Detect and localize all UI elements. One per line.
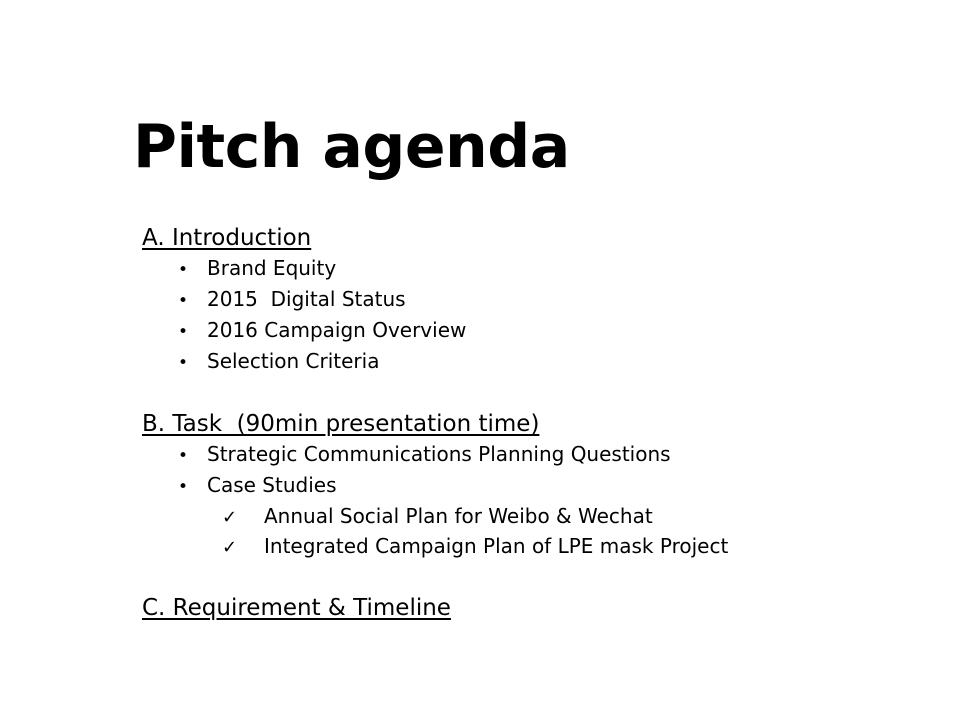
list-item-label: Brand Equity [207,254,336,283]
list-item-label: Integrated Campaign Plan of LPE mask Pro… [264,532,728,561]
bullet-dot-icon: • [178,318,207,347]
section-heading-text: C. Requirement & Timeline [142,595,451,621]
page-title: Pitch agenda [133,112,570,182]
checkmark-icon: ✓ [222,533,264,562]
bullet-list: •Strategic Communications Planning Quest… [0,440,960,562]
bullet-dot-icon: • [178,256,207,285]
list-item: •Selection Criteria [0,347,960,378]
list-item: •2016 Campaign Overview [0,316,960,347]
section-heading-text: B. Task (90min presentation time) [142,411,539,437]
section-heading: B. Task (90min presentation time) [0,408,960,440]
agenda-body: A. Introduction•Brand Equity•2015 Digita… [0,222,960,624]
section-spacer [0,562,960,592]
checkmark-icon: ✓ [222,503,264,532]
bullet-dot-icon: • [178,442,207,471]
agenda-section: A. Introduction•Brand Equity•2015 Digita… [0,222,960,378]
list-item-label: Selection Criteria [207,347,379,376]
section-heading-text: A. Introduction [142,225,311,251]
list-item-label: Annual Social Plan for Weibo & Wechat [264,502,653,531]
agenda-section: C. Requirement & Timeline [0,592,960,624]
list-item: •2015 Digital Status [0,285,960,316]
bullet-dot-icon: • [178,473,207,502]
bullet-dot-icon: • [178,349,207,378]
section-spacer [0,378,960,408]
bullet-dot-icon: • [178,287,207,316]
bullet-list: •Brand Equity•2015 Digital Status•2016 C… [0,254,960,378]
presentation-slide: Pitch agenda A. Introduction•Brand Equit… [0,0,960,720]
list-item-label: Case Studies [207,471,337,500]
list-item: •Brand Equity [0,254,960,285]
agenda-section: B. Task (90min presentation time)•Strate… [0,408,960,562]
list-item: ✓Annual Social Plan for Weibo & Wechat [0,502,960,532]
list-item: •Strategic Communications Planning Quest… [0,440,960,471]
list-item-label: 2016 Campaign Overview [207,316,466,345]
list-item-label: Strategic Communications Planning Questi… [207,440,671,469]
section-heading: A. Introduction [0,222,960,254]
list-item-label: 2015 Digital Status [207,285,406,314]
list-item: ✓Integrated Campaign Plan of LPE mask Pr… [0,532,960,562]
list-item: •Case Studies [0,471,960,502]
section-heading: C. Requirement & Timeline [0,592,960,624]
